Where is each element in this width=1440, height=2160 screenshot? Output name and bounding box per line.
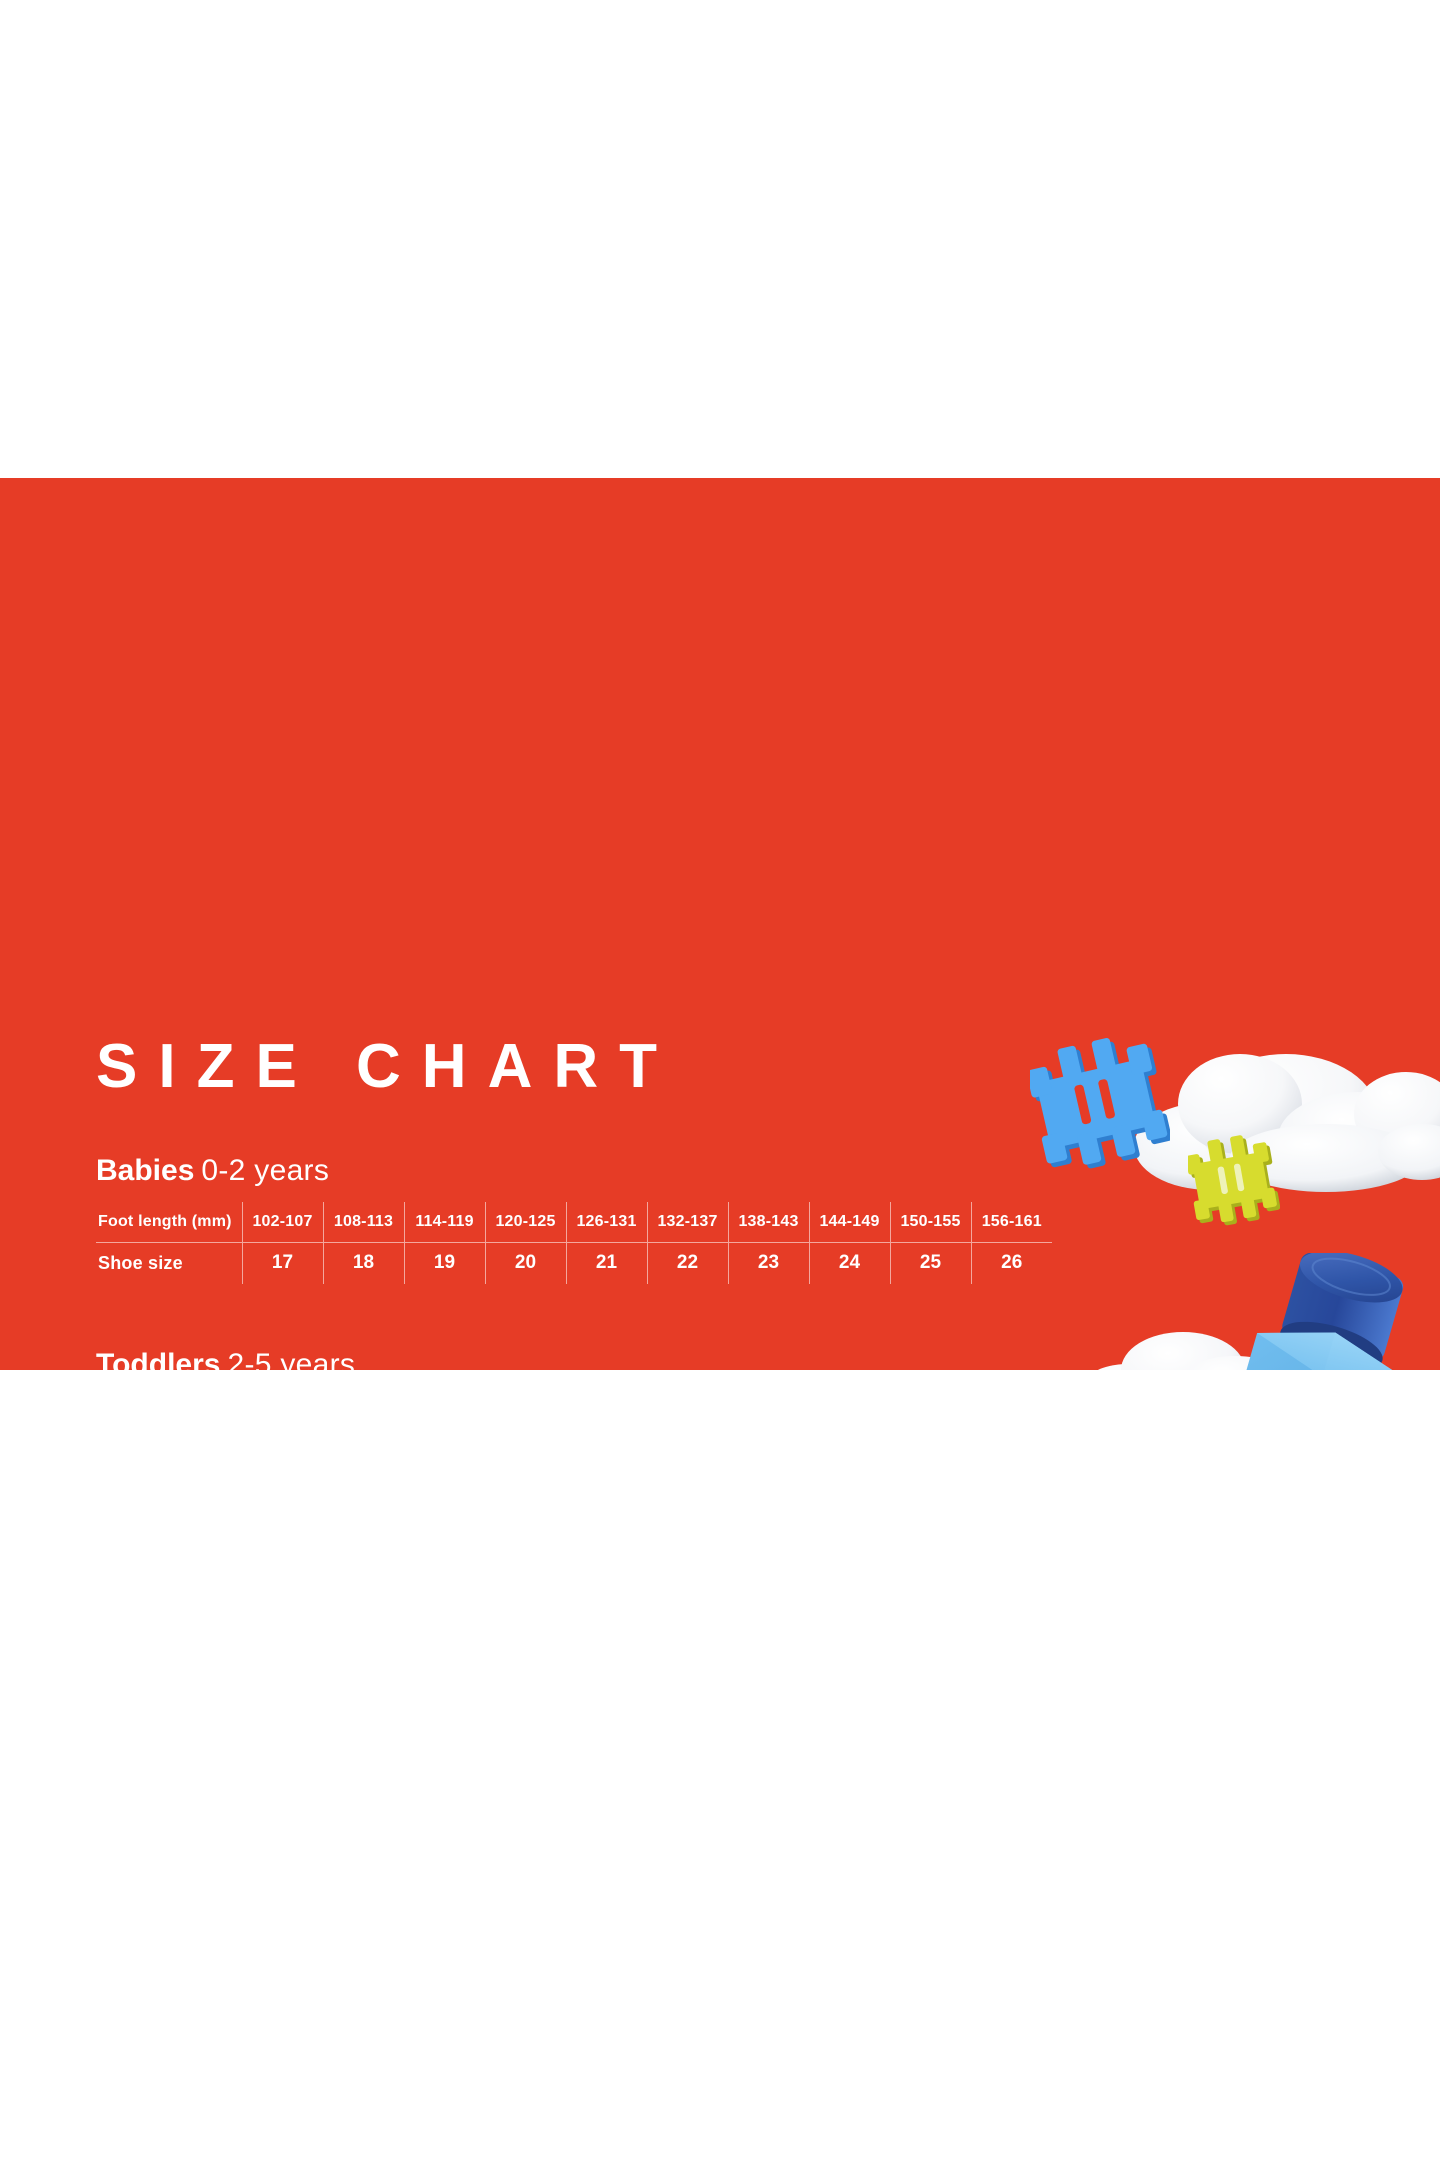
cell-shoe-size: 23 bbox=[728, 1242, 809, 1284]
section-group-name: Toddlers bbox=[96, 1348, 220, 1370]
cell-foot-length: 144-149 bbox=[809, 1202, 890, 1242]
pixel-creature-yellow-icon bbox=[1188, 1133, 1280, 1233]
cell-shoe-size: 18 bbox=[323, 1242, 404, 1284]
size-chart-page: SIZE CHART Babies0-2 years Foot length (… bbox=[0, 0, 1440, 2160]
table-row-shoe-size: Shoe size 17 18 19 20 21 22 23 24 25 26 bbox=[96, 1242, 1052, 1284]
cell-shoe-size: 17 bbox=[242, 1242, 323, 1284]
section-group-name: Babies bbox=[96, 1154, 194, 1187]
cell-foot-length: 114-119 bbox=[404, 1202, 485, 1242]
cell-shoe-size: 25 bbox=[890, 1242, 971, 1284]
section-heading-babies: Babies0-2 years bbox=[96, 1154, 1052, 1187]
table-row-foot-length: Foot length (mm) 102-107 108-113 114-119… bbox=[96, 1202, 1052, 1242]
toy-building-block-icon bbox=[1208, 1253, 1440, 1370]
red-panel: SIZE CHART Babies0-2 years Foot length (… bbox=[0, 478, 1440, 1370]
cell-shoe-size: 20 bbox=[485, 1242, 566, 1284]
section-age-range: 0-2 years bbox=[201, 1154, 329, 1187]
cell-foot-length: 102-107 bbox=[242, 1202, 323, 1242]
cell-shoe-size: 21 bbox=[566, 1242, 647, 1284]
page-title: SIZE CHART bbox=[96, 1036, 678, 1098]
section-babies: Babies0-2 years Foot length (mm) 102-107… bbox=[96, 1154, 1052, 1284]
row-label-shoe-size: Shoe size bbox=[96, 1242, 242, 1284]
cell-foot-length: 150-155 bbox=[890, 1202, 971, 1242]
cloud-3d-icon bbox=[1090, 1018, 1440, 1198]
cell-foot-length: 138-143 bbox=[728, 1202, 809, 1242]
row-label-foot-length: Foot length (mm) bbox=[96, 1202, 242, 1242]
section-toddlers: Toddlers2-5 years Foot length (mm) 162-1… bbox=[96, 1348, 971, 1370]
cell-shoe-size: 26 bbox=[971, 1242, 1052, 1284]
cell-foot-length: 108-113 bbox=[323, 1202, 404, 1242]
cell-foot-length: 156-161 bbox=[971, 1202, 1052, 1242]
section-heading-toddlers: Toddlers2-5 years bbox=[96, 1348, 971, 1370]
cloud-3d-icon bbox=[1075, 1308, 1305, 1370]
cell-shoe-size: 19 bbox=[404, 1242, 485, 1284]
cell-shoe-size: 22 bbox=[647, 1242, 728, 1284]
foot-length-unit: (mm) bbox=[192, 1213, 232, 1230]
cell-shoe-size: 24 bbox=[809, 1242, 890, 1284]
section-age-range: 2-5 years bbox=[227, 1348, 355, 1370]
cell-foot-length: 120-125 bbox=[485, 1202, 566, 1242]
cell-foot-length: 126-131 bbox=[566, 1202, 647, 1242]
foot-length-label: Foot length bbox=[98, 1213, 187, 1230]
cell-foot-length: 132-137 bbox=[647, 1202, 728, 1242]
size-table-babies: Foot length (mm) 102-107 108-113 114-119… bbox=[96, 1202, 1052, 1284]
